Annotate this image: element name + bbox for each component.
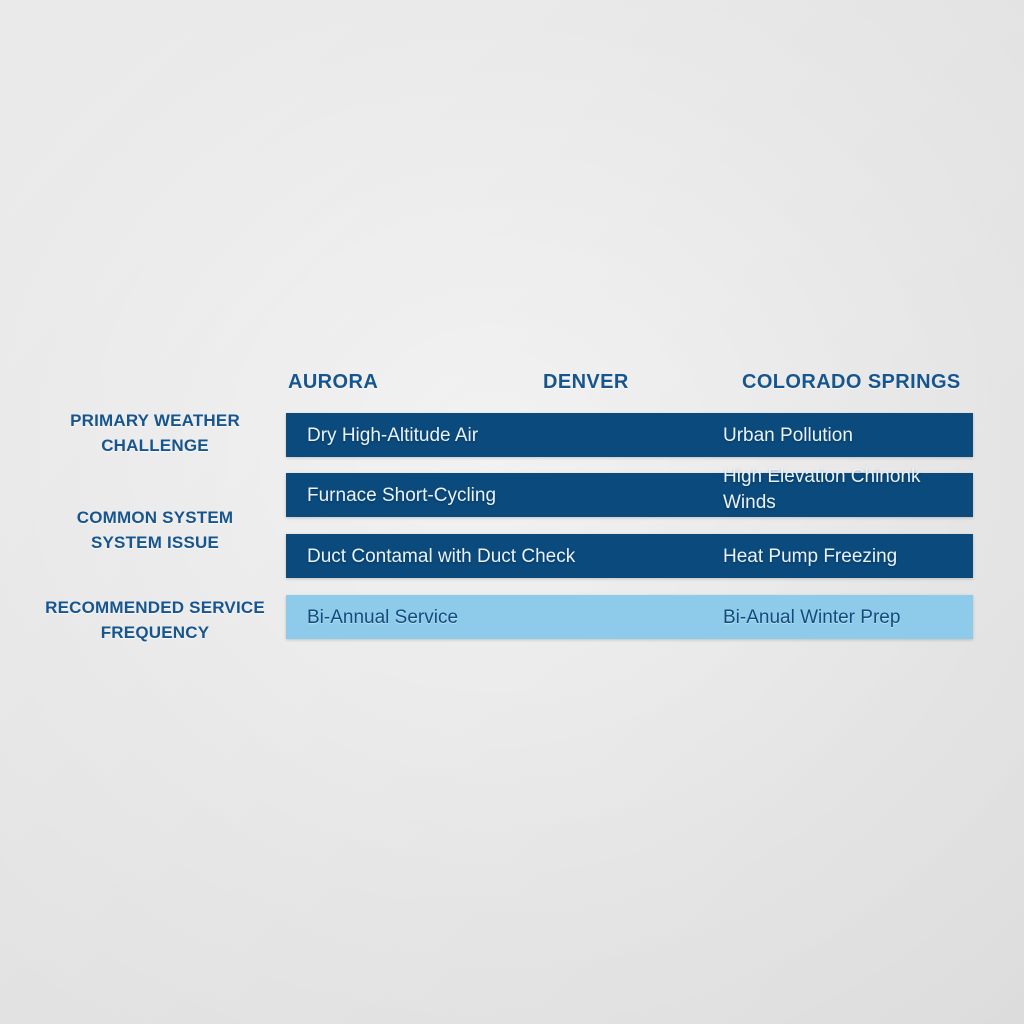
row-label-recommended-service-frequency: RECOMMENDED SERVICE FREQUENCY xyxy=(40,595,270,645)
cell-aurora-recommended-service-frequency: Bi-Annual Service xyxy=(307,605,458,631)
row-label-common-system-issue: COMMON SYSTEM SYSTEM ISSUE xyxy=(40,505,270,555)
cell-colorado-springs-recommended-service-frequency: Bi-Anual Winter Prep xyxy=(723,605,900,631)
column-header-aurora: AURORA xyxy=(288,371,378,394)
cell-aurora-common-system-issue: Furnace Short-Cycling xyxy=(307,483,496,509)
cell-aurora-duct-issue: Duct Contamal with Duct Check xyxy=(307,544,575,570)
row-label-primary-weather-challenge: PRIMARY WEATHER CHALLENGE xyxy=(40,408,270,458)
cell-aurora-primary-weather-challenge: Dry High-Altitude Air xyxy=(307,423,478,449)
hvac-city-comparison-table: AURORA DENVER COLORADO SPRINGS PRIMARY W… xyxy=(0,0,1024,1024)
column-header-colorado-springs: COLORADO SPRINGS xyxy=(742,371,961,394)
cell-colorado-springs-duct-issue: Heat Pump Freezing xyxy=(723,544,897,570)
cell-colorado-springs-common-system-issue: High Elevation Chinonk Winds xyxy=(723,464,963,516)
column-header-denver: DENVER xyxy=(543,371,629,394)
cell-colorado-springs-primary-weather-challenge: Urban Pollution xyxy=(723,423,853,449)
